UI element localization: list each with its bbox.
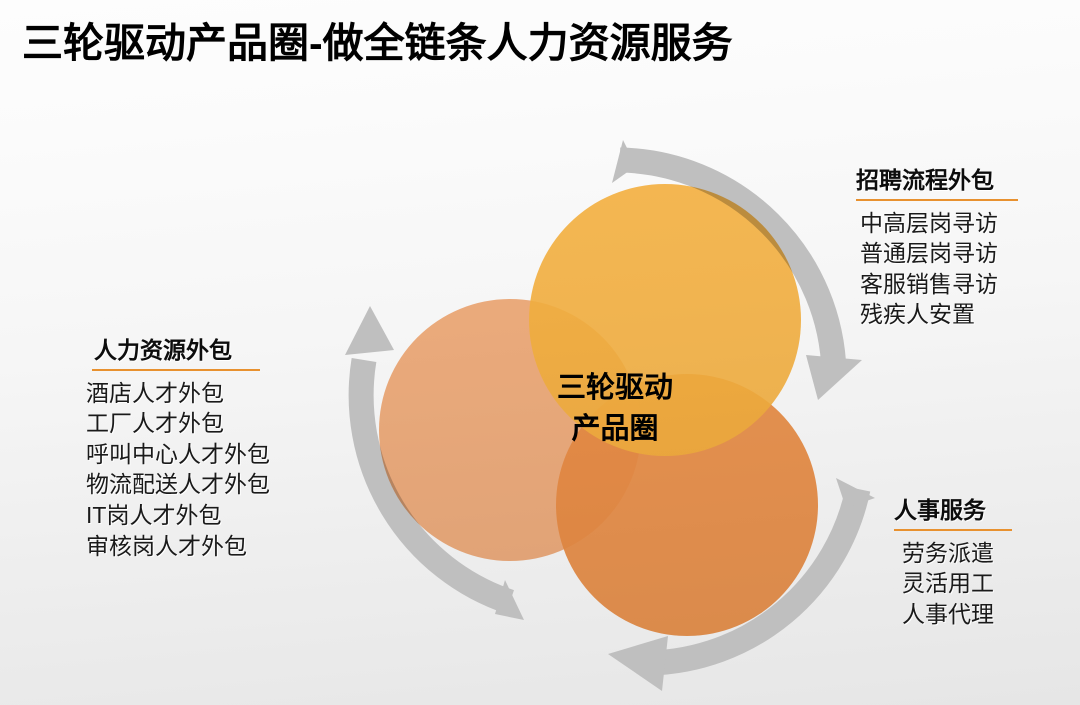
callout-recruitment-process-outsourcing: 招聘流程外包 中高层岗寻访 普通层岗寻访 客服销售寻访 残疾人安置 (856, 166, 1018, 330)
callout-list-hro: 酒店人才外包 工厂人才外包 呼叫中心人才外包 物流配送人才外包 IT岗人才外包 … (86, 378, 270, 561)
list-item: 中高层岗寻访 (860, 208, 1018, 239)
callout-rule-hro (92, 369, 260, 371)
callout-rule-rpo (856, 199, 1018, 201)
list-item: 劳务派遣 (902, 538, 1012, 569)
callout-heading-hr: 人事服务 (892, 496, 1012, 525)
yellow-circle (529, 184, 801, 456)
list-item: 呼叫中心人才外包 (86, 439, 270, 470)
callout-heading-rpo: 招聘流程外包 (856, 166, 1018, 195)
callout-heading-hro: 人力资源外包 (86, 336, 270, 365)
list-item: 人事代理 (902, 599, 1012, 630)
list-item: 客服销售寻访 (860, 269, 1018, 300)
callout-list-rpo: 中高层岗寻访 普通层岗寻访 客服销售寻访 残疾人安置 (860, 208, 1018, 330)
callout-hr-outsourcing: 人力资源外包 酒店人才外包 工厂人才外包 呼叫中心人才外包 物流配送人才外包 I… (86, 336, 270, 561)
list-item: 审核岗人才外包 (86, 531, 270, 562)
list-item: 灵活用工 (902, 568, 1012, 599)
slide-canvas: 三轮驱动产品圈-做全链条人力资源服务 (0, 0, 1080, 705)
list-item: 普通层岗寻访 (860, 238, 1018, 269)
list-item: 酒店人才外包 (86, 378, 270, 409)
callout-list-hr: 劳务派遣 灵活用工 人事代理 (902, 538, 1012, 630)
callout-personnel-services: 人事服务 劳务派遣 灵活用工 人事代理 (892, 496, 1012, 629)
list-item: 工厂人才外包 (86, 408, 270, 439)
list-item: 物流配送人才外包 (86, 469, 270, 500)
list-item: IT岗人才外包 (86, 500, 270, 531)
callout-rule-hr (894, 529, 1012, 531)
list-item: 残疾人安置 (860, 299, 1018, 330)
